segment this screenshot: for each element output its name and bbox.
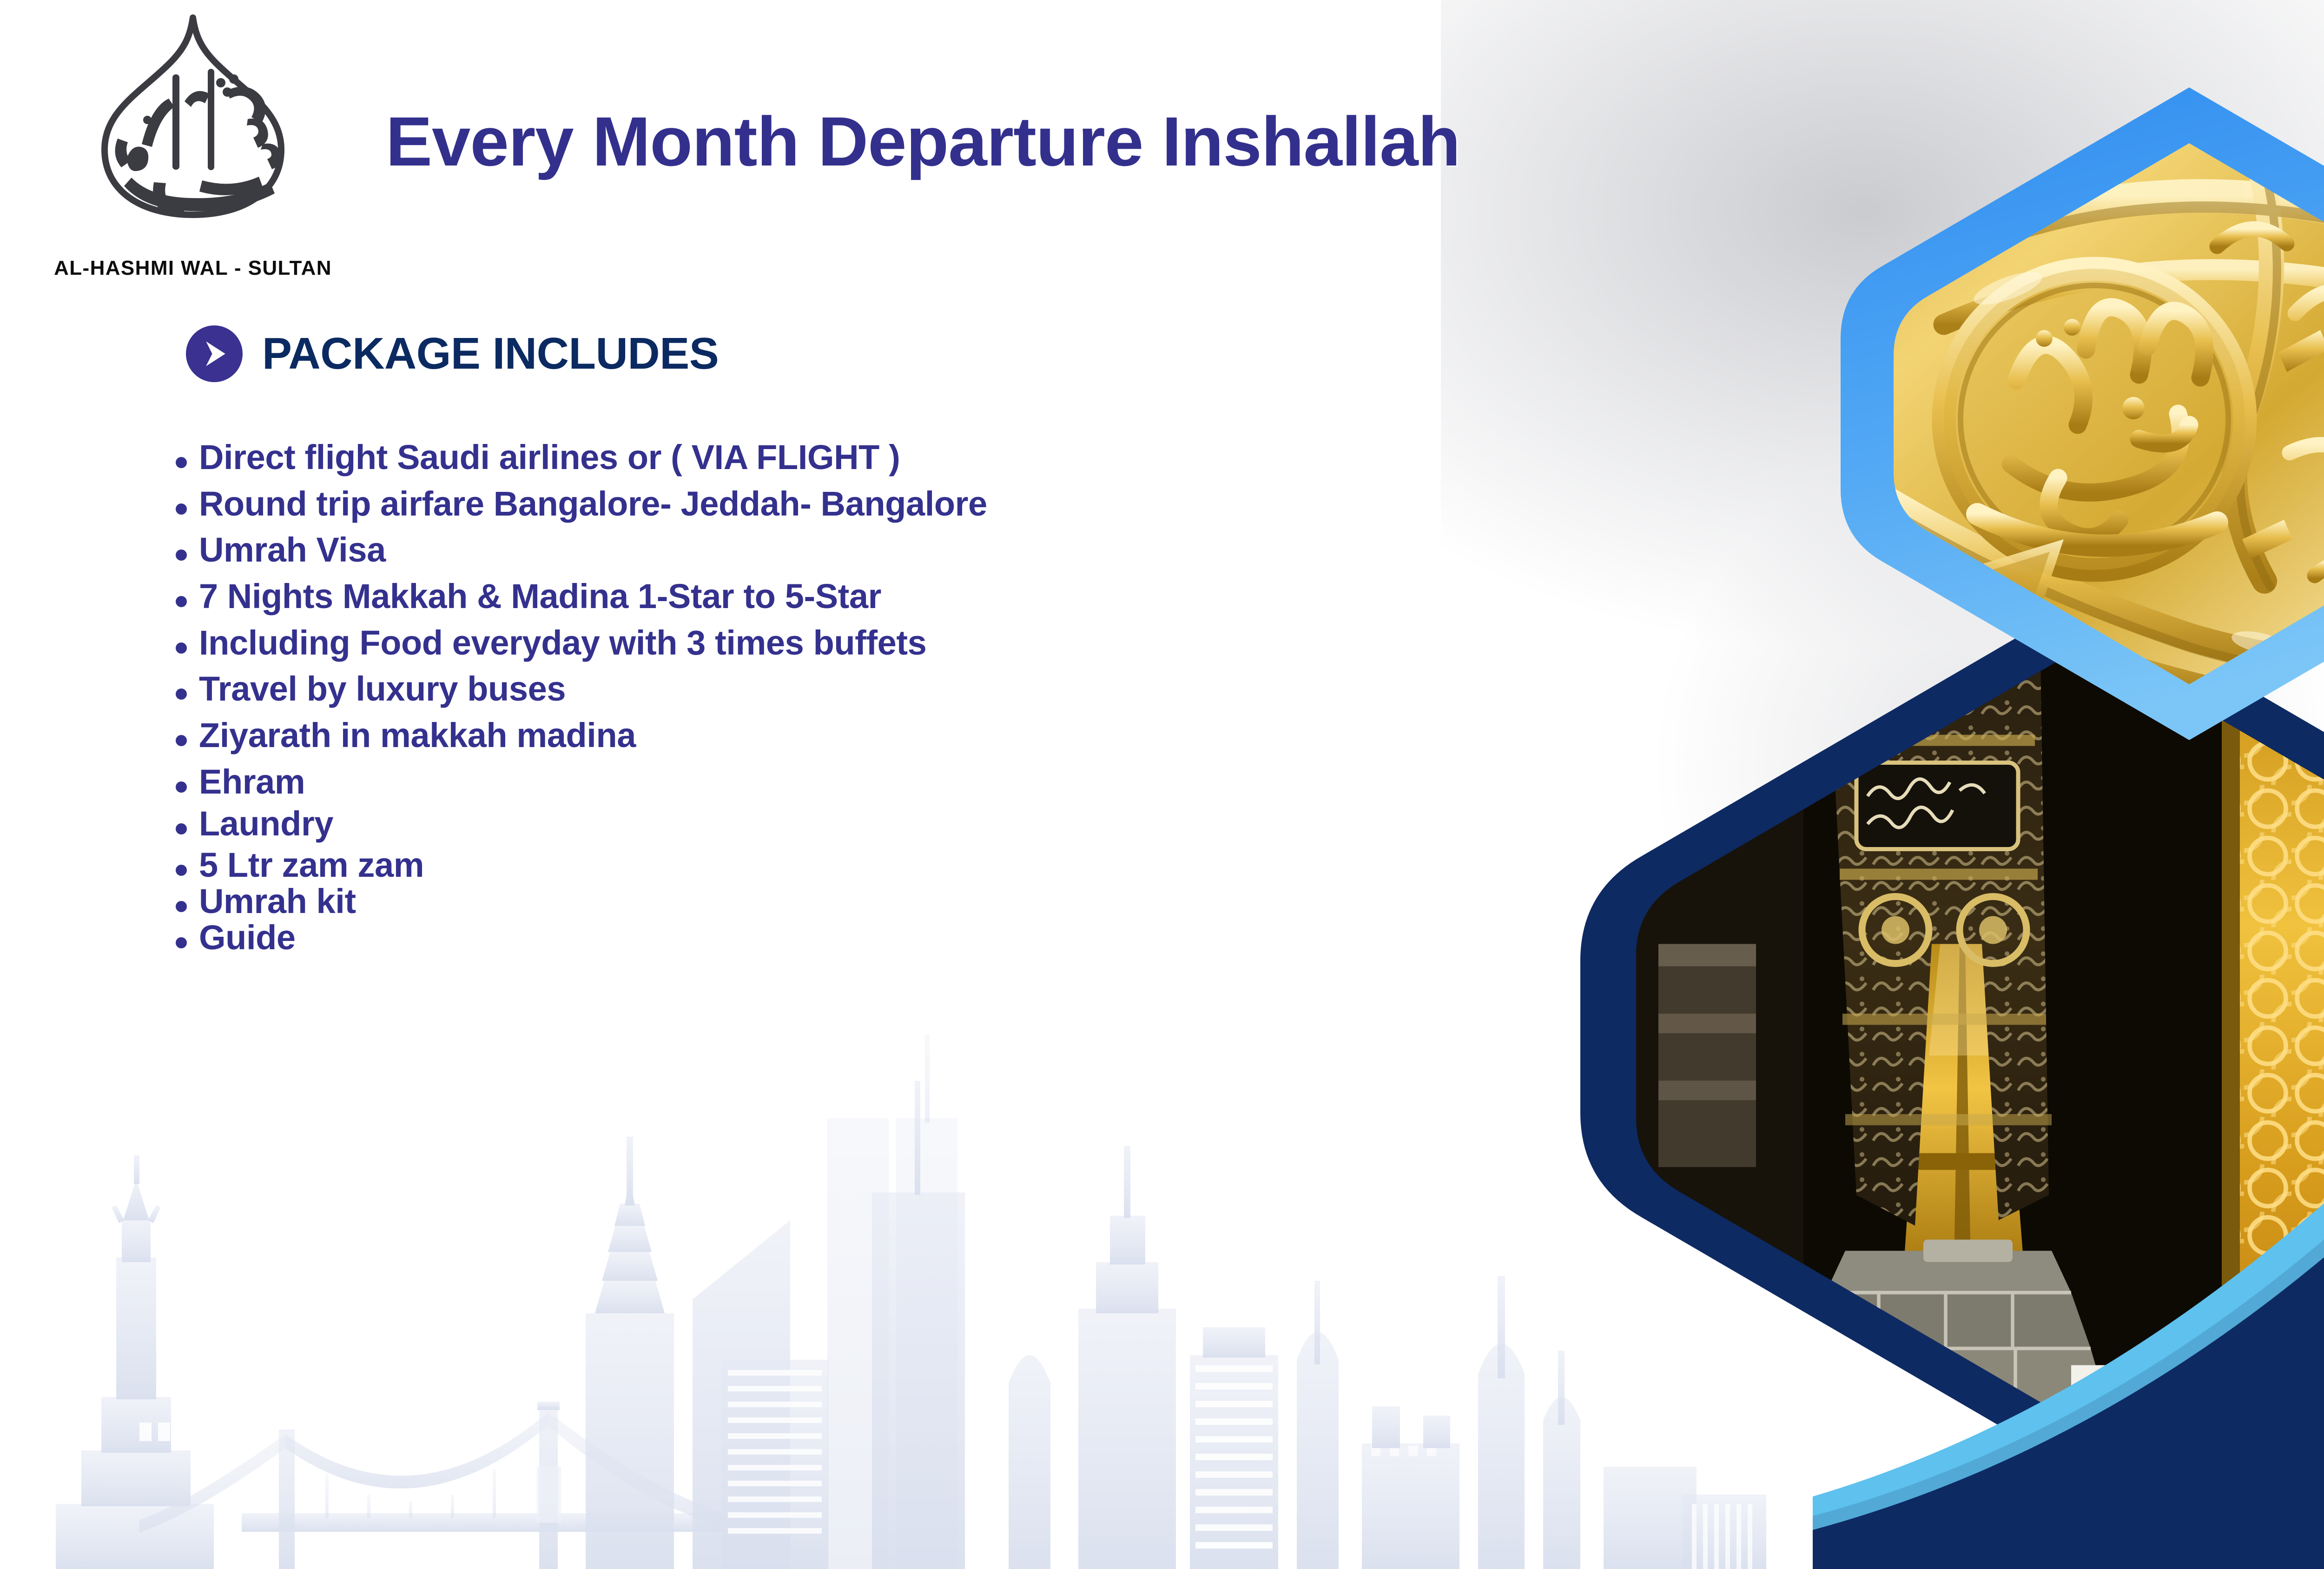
bullet-dot-icon <box>176 457 187 468</box>
list-item-label: 7 Nights Makkah & Madina 1-Star to 5-Sta… <box>199 578 881 615</box>
poster-canvas: AL-HASHMI WAL - SULTAN Every Month Depar… <box>0 0 2324 1569</box>
list-item-label: Travel by luxury buses <box>199 671 566 707</box>
list-item-label: Direct flight Saudi airlines or ( VIA FL… <box>199 439 900 476</box>
list-item-label: Round trip airfare Bangalore- Jeddah- Ba… <box>199 486 987 522</box>
section-title: PACKAGE INCLUDES <box>262 328 719 379</box>
list-item: 7 Nights Makkah & Madina 1-Star to 5-Sta… <box>176 578 1640 615</box>
list-item-label: 5 Ltr zam zam <box>199 847 424 883</box>
list-item: Umrah kit <box>176 883 1640 920</box>
page-title: Every Month Departure Inshallah <box>386 101 1460 182</box>
list-item-label: Including Food everyday with 3 times buf… <box>199 625 926 661</box>
bullet-dot-icon <box>176 642 187 654</box>
list-item: Including Food everyday with 3 times buf… <box>176 625 1640 661</box>
list-item-label: Umrah kit <box>199 883 356 920</box>
golden-calligraphy-photo <box>1799 79 2324 748</box>
list-item-label: Ziyarath in makkah madina <box>199 717 636 754</box>
list-item-label: Guide <box>199 920 296 956</box>
list-item: Ziyarath in makkah madina <box>176 717 1640 754</box>
list-item: Guide <box>176 920 1640 956</box>
list-item-label: Umrah Visa <box>199 532 386 568</box>
bullet-dot-icon <box>176 781 187 793</box>
list-item: Laundry <box>176 806 1640 842</box>
list-item-label: Ehram <box>199 764 305 800</box>
city-skyline-watermark <box>0 895 1813 1569</box>
bullet-dot-icon <box>176 596 187 607</box>
package-items-list: Direct flight Saudi airlines or ( VIA FL… <box>176 439 1640 955</box>
brand-logo: AL-HASHMI WAL - SULTAN <box>44 5 342 311</box>
list-item-label: Laundry <box>199 806 333 842</box>
bullet-dot-icon <box>176 503 187 515</box>
list-item: Ehram <box>176 764 1640 800</box>
list-item: Direct flight Saudi airlines or ( VIA FL… <box>176 439 1640 476</box>
arabic-calligraphy-dome-logo <box>63 5 323 265</box>
package-includes-header: PACKAGE INCLUDES <box>186 325 719 382</box>
list-item: Umrah Visa <box>176 532 1640 568</box>
list-item: 5 Ltr zam zam <box>176 847 1640 883</box>
bullet-dot-icon <box>176 689 187 700</box>
bullet-dot-icon <box>176 937 187 948</box>
bullet-dot-icon <box>176 735 187 746</box>
list-item: Travel by luxury buses <box>176 671 1640 707</box>
bullet-dot-icon <box>176 549 187 561</box>
list-item: Round trip airfare Bangalore- Jeddah- Ba… <box>176 486 1640 522</box>
play-arrow-icon <box>186 325 243 382</box>
bullet-dot-icon <box>176 901 187 912</box>
brand-logo-caption: AL-HASHMI WAL - SULTAN <box>44 257 342 280</box>
bullet-dot-icon <box>176 823 187 834</box>
bullet-dot-icon <box>176 865 187 876</box>
